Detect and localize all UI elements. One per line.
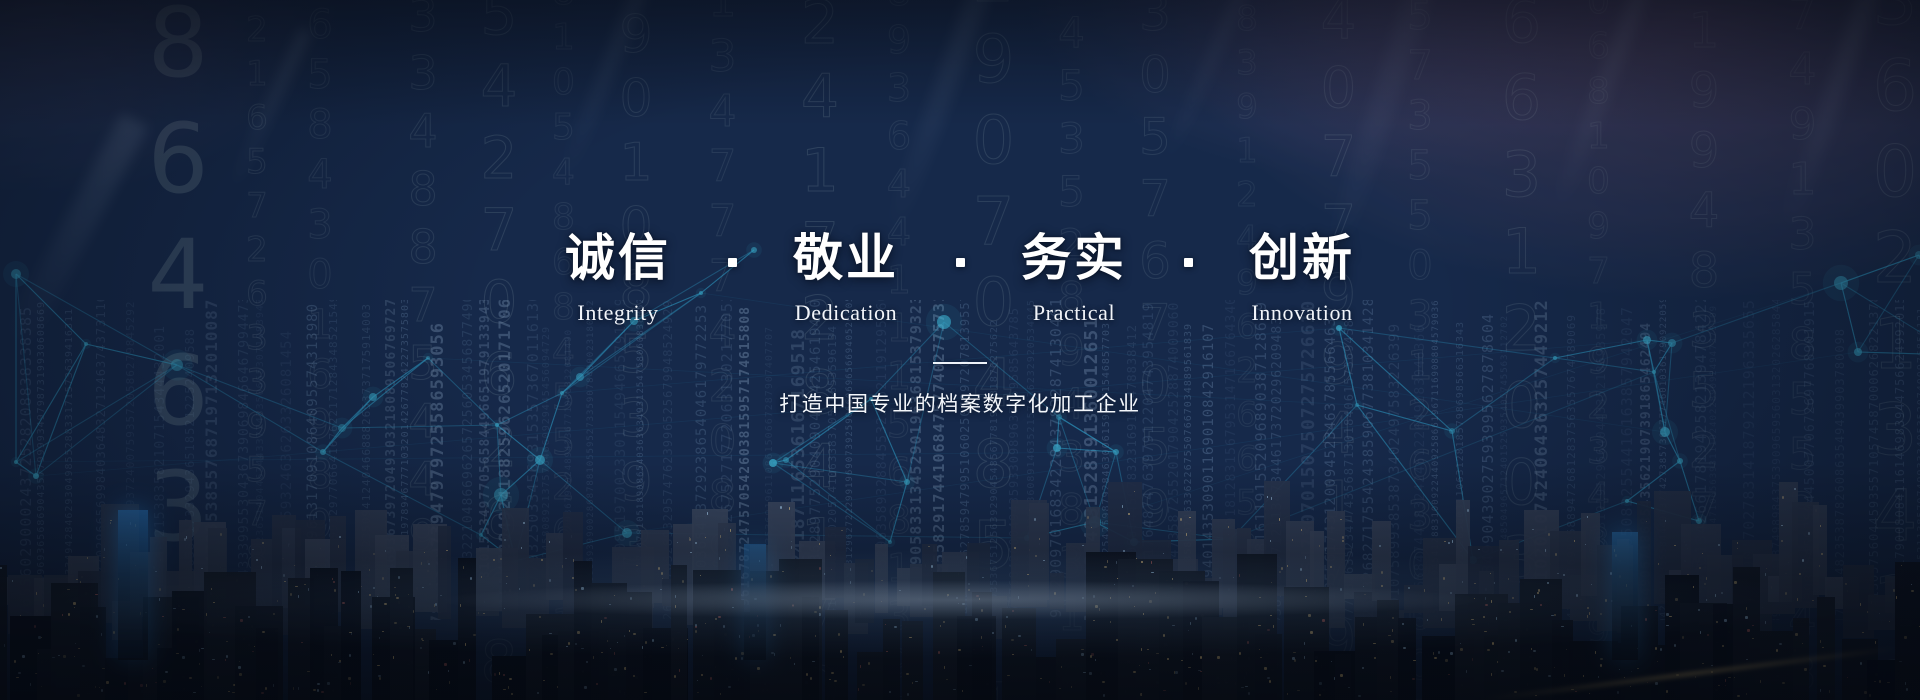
window-light [421, 638, 423, 640]
window-light [298, 687, 299, 690]
window-light [840, 650, 842, 653]
window-light [1529, 656, 1532, 658]
window-light [1035, 555, 1037, 557]
window-light [1734, 646, 1736, 647]
window-light [695, 624, 697, 627]
window-light [394, 587, 396, 588]
window-light [697, 680, 698, 681]
window-light [1756, 567, 1758, 570]
window-light [332, 578, 333, 580]
window-light [633, 675, 635, 677]
window-light [226, 655, 228, 658]
window-light [1559, 622, 1560, 623]
window-light [731, 669, 733, 670]
window-light [1163, 601, 1165, 602]
window-light [1715, 666, 1716, 667]
window-light [624, 667, 627, 670]
window-light [43, 604, 44, 607]
window-light [453, 642, 456, 645]
building-near [37, 649, 56, 700]
window-light [1243, 624, 1244, 627]
window-light [1799, 573, 1801, 575]
window-light [695, 542, 697, 544]
building-far [1286, 521, 1314, 614]
building-far [330, 516, 346, 612]
window-light [881, 580, 883, 581]
window-light [379, 637, 380, 639]
window-light [885, 624, 886, 625]
window-light [1394, 634, 1396, 635]
window-light [1153, 585, 1154, 588]
building-near [1159, 571, 1205, 700]
window-light [1166, 580, 1168, 581]
window-light [1188, 630, 1189, 631]
light-streak [1776, 0, 1889, 237]
window-light [233, 684, 236, 686]
building-near [415, 629, 436, 700]
window-light [924, 608, 926, 610]
window-light [1547, 582, 1549, 584]
window-light [1889, 621, 1890, 622]
headline-cn-practical: 务实 [1021, 230, 1127, 286]
window-light [1082, 597, 1084, 599]
building-far [844, 563, 868, 634]
building-near [1202, 617, 1248, 700]
window-light [1669, 616, 1672, 617]
window-light [1095, 659, 1096, 661]
window-light [751, 619, 753, 621]
window-light [239, 661, 240, 662]
window-light [1130, 594, 1133, 595]
window-light [1107, 560, 1108, 563]
building-near [693, 570, 741, 700]
window-light [210, 592, 212, 595]
window-light [1687, 574, 1689, 575]
window-light [1167, 658, 1169, 660]
window-light [166, 678, 168, 679]
building-near [324, 626, 342, 700]
window-light [868, 662, 870, 665]
window-light [186, 536, 187, 539]
window-light [539, 616, 541, 618]
window-light [1492, 642, 1494, 645]
building-far [0, 577, 10, 605]
window-light [1715, 594, 1716, 597]
window-light [572, 577, 574, 579]
window-light [217, 676, 219, 679]
window-light [519, 588, 520, 590]
window-light [212, 624, 214, 627]
window-light [102, 668, 105, 669]
window-light [1845, 583, 1846, 584]
window-light [1363, 586, 1364, 587]
window-light [652, 639, 654, 642]
window-light [1149, 600, 1152, 603]
window-light [1104, 566, 1107, 568]
window-light [940, 625, 941, 627]
window-light [167, 674, 169, 675]
window-light [16, 677, 19, 678]
window-light [1174, 671, 1175, 674]
window-light [73, 602, 76, 605]
window-light [1235, 682, 1236, 685]
window-light [647, 642, 649, 644]
window-light [1267, 629, 1270, 631]
building-far [1669, 570, 1681, 631]
window-light [1373, 643, 1376, 644]
window-light [792, 605, 794, 606]
window-light [697, 692, 699, 693]
window-light [1600, 613, 1602, 615]
window-light [211, 588, 212, 590]
building-near [1314, 651, 1355, 700]
window-light [1029, 549, 1030, 551]
window-light [113, 631, 115, 634]
window-light [189, 677, 192, 679]
window-light [1304, 642, 1305, 645]
window-light [1554, 667, 1555, 668]
building-near [1355, 617, 1394, 700]
window-light [473, 634, 476, 636]
window-light [1273, 625, 1274, 628]
window-light [1259, 592, 1261, 594]
window-light [1753, 592, 1754, 594]
window-light [838, 633, 840, 636]
window-light [384, 603, 387, 605]
window-light [843, 656, 844, 658]
window-light [814, 667, 817, 668]
window-light [1175, 671, 1178, 674]
window-light [408, 594, 409, 595]
window-light [254, 646, 255, 647]
window-light [1129, 557, 1131, 560]
window-light [1167, 616, 1169, 619]
window-light [829, 679, 831, 680]
window-light [789, 507, 790, 510]
building-far [788, 605, 803, 630]
window-light [1134, 491, 1135, 492]
window-light [899, 590, 901, 591]
window-light [1281, 567, 1283, 570]
window-light [1434, 657, 1437, 659]
window-light [349, 632, 352, 633]
window-light [1297, 690, 1300, 691]
window-light [330, 586, 332, 588]
window-light [1589, 612, 1590, 615]
window-light [1164, 643, 1167, 646]
window-light [1093, 595, 1095, 598]
window-light [1695, 676, 1696, 678]
building-near [105, 658, 146, 700]
window-light [1744, 663, 1745, 665]
window-light [499, 672, 500, 675]
window-light [1771, 586, 1772, 589]
window-light [1163, 634, 1165, 637]
window-light [1904, 636, 1907, 639]
window-light [182, 656, 185, 659]
building-near [558, 631, 599, 700]
window-light [1040, 678, 1042, 679]
window-light [317, 574, 318, 576]
building-far [1637, 501, 1651, 617]
window-light [503, 689, 506, 690]
window-light [369, 594, 371, 596]
window-light [261, 566, 262, 569]
window-light [422, 587, 424, 588]
window-light [1715, 689, 1718, 691]
window-light [1787, 674, 1789, 675]
window-light [416, 587, 418, 590]
window-light [636, 695, 638, 696]
window-light [1103, 688, 1104, 690]
window-light [1228, 534, 1229, 535]
window-light [298, 595, 299, 598]
window-light [1381, 677, 1382, 679]
window-light [1911, 590, 1914, 592]
window-light [173, 608, 176, 609]
window-light [1737, 548, 1738, 549]
window-light [1128, 513, 1130, 515]
window-light [1501, 670, 1504, 672]
window-light [764, 683, 766, 685]
window-light [1871, 601, 1872, 604]
window-light [93, 688, 95, 689]
window-light [554, 665, 557, 666]
window-light [378, 675, 381, 677]
window-light [567, 691, 569, 692]
building-near [235, 606, 283, 700]
window-light [1374, 657, 1376, 659]
window-light [1797, 586, 1798, 587]
window-light [1534, 667, 1536, 670]
window-light [881, 601, 882, 602]
window-light [195, 640, 198, 643]
window-light [154, 603, 156, 605]
window-light [1821, 553, 1823, 555]
window-light [1474, 583, 1476, 584]
window-light [1709, 635, 1711, 638]
window-light [1718, 544, 1720, 546]
window-light [407, 664, 410, 665]
window-light [962, 690, 963, 692]
building-near [802, 597, 819, 700]
building-near [1455, 594, 1508, 700]
window-light [1443, 577, 1445, 580]
window-light [74, 656, 75, 657]
building-near [591, 583, 627, 700]
window-light [1049, 681, 1050, 683]
window-light [771, 564, 773, 566]
window-light [470, 577, 472, 580]
window-light [1287, 693, 1288, 695]
window-light [918, 598, 920, 600]
window-light [1450, 652, 1453, 655]
window-light [601, 652, 603, 653]
building-far [78, 571, 101, 608]
window-light [1408, 587, 1410, 589]
window-light [944, 582, 945, 584]
window-light [1321, 665, 1322, 668]
window-light [731, 588, 733, 591]
window-light [317, 689, 319, 692]
window-light [1301, 529, 1302, 531]
window-light [36, 592, 37, 595]
window-light [1140, 693, 1143, 696]
window-light [1247, 641, 1249, 644]
window-light [393, 581, 395, 583]
window-light [1214, 587, 1215, 590]
window-light [304, 584, 306, 585]
window-light [1879, 613, 1880, 614]
window-light [658, 567, 660, 570]
window-light [981, 636, 982, 639]
window-light [1170, 587, 1173, 589]
window-light [685, 685, 687, 686]
window-light [1238, 576, 1240, 578]
window-light [277, 600, 278, 602]
window-light [135, 670, 136, 671]
window-light [1587, 516, 1588, 518]
window-light [155, 682, 157, 683]
window-light [1268, 646, 1269, 647]
window-light [739, 635, 740, 638]
light-streak [1155, 0, 1253, 175]
window-light [907, 693, 909, 696]
window-light [38, 636, 41, 639]
building-far [1581, 513, 1600, 596]
window-light [206, 613, 207, 616]
window-light [435, 603, 437, 606]
window-light [1094, 576, 1095, 579]
window-light [1, 587, 3, 590]
building-near [1895, 562, 1920, 700]
window-light [1100, 690, 1102, 693]
building-far [673, 524, 694, 625]
window-light [754, 598, 757, 600]
window-light [810, 677, 812, 680]
window-light [1186, 533, 1187, 536]
window-light [275, 669, 276, 672]
window-light [1782, 688, 1785, 689]
building-near [128, 659, 175, 700]
window-light [1185, 682, 1187, 685]
window-light [41, 637, 42, 638]
window-light [130, 522, 131, 525]
building-far [855, 559, 874, 623]
window-light [1225, 681, 1227, 684]
window-light [82, 665, 85, 667]
window-light [617, 590, 618, 591]
window-light [1003, 612, 1004, 613]
window-light [256, 559, 258, 561]
window-light [1271, 497, 1272, 500]
window-light [1483, 616, 1485, 618]
window-light [155, 571, 157, 572]
window-light [1508, 651, 1510, 653]
window-light [814, 611, 817, 613]
window-light [1551, 590, 1553, 593]
light-streak [554, 0, 655, 186]
window-light [1239, 574, 1240, 577]
building-far [1479, 571, 1494, 620]
window-light [1711, 613, 1713, 614]
window-light [394, 622, 397, 624]
window-light [1808, 532, 1810, 535]
window-light [1238, 580, 1239, 582]
building-near [256, 628, 278, 700]
window-light [1117, 578, 1120, 579]
window-light [1537, 592, 1539, 594]
window-light [557, 656, 560, 657]
window-light [1300, 568, 1302, 571]
window-light [509, 678, 512, 680]
building-far [1247, 539, 1266, 636]
window-light [938, 651, 940, 654]
window-light [549, 579, 551, 582]
window-light [912, 682, 913, 684]
landmark-tower [744, 544, 766, 660]
window-light [1259, 581, 1261, 582]
window-light [682, 580, 684, 583]
window-light [1502, 552, 1504, 553]
window-light [1535, 695, 1537, 696]
window-light [201, 686, 202, 687]
building-far [1779, 482, 1798, 602]
window-light [943, 621, 945, 623]
building-near [10, 616, 52, 700]
window-light [1071, 686, 1072, 688]
window-light [199, 663, 200, 665]
headline-separator-dot [728, 258, 737, 267]
window-light [1116, 639, 1118, 641]
window-light [1571, 689, 1574, 690]
window-light [304, 578, 306, 579]
window-light [201, 568, 203, 569]
banner-content: 诚信 Integrity 敬业 Dedication 务实 Practical … [0, 230, 1920, 418]
window-light [1674, 625, 1676, 626]
window-light [1113, 593, 1114, 594]
window-light [1822, 647, 1824, 648]
window-light [460, 604, 461, 607]
window-light [1402, 623, 1404, 625]
headline-row: 诚信 Integrity 敬业 Dedication 务实 Practical … [0, 230, 1920, 326]
window-light [1181, 660, 1183, 661]
building-far [1654, 491, 1691, 604]
window-light [806, 673, 808, 676]
window-light [1096, 610, 1098, 613]
window-light [549, 541, 550, 543]
window-light [732, 607, 734, 608]
window-light [726, 678, 728, 680]
window-light [481, 576, 482, 578]
building-near [825, 610, 848, 700]
window-light [1787, 674, 1788, 675]
window-light [614, 652, 615, 655]
building-far [1768, 576, 1802, 602]
window-light [581, 648, 584, 649]
window-light [1492, 593, 1493, 596]
window-light [1330, 566, 1332, 568]
window-light [794, 663, 795, 665]
window-light [1585, 544, 1586, 545]
window-light [1310, 631, 1313, 634]
window-light [1462, 581, 1463, 583]
window-light [250, 658, 252, 659]
window-light [581, 587, 584, 590]
window-light [188, 587, 190, 588]
building-near [1398, 618, 1416, 700]
building-far [526, 558, 549, 618]
